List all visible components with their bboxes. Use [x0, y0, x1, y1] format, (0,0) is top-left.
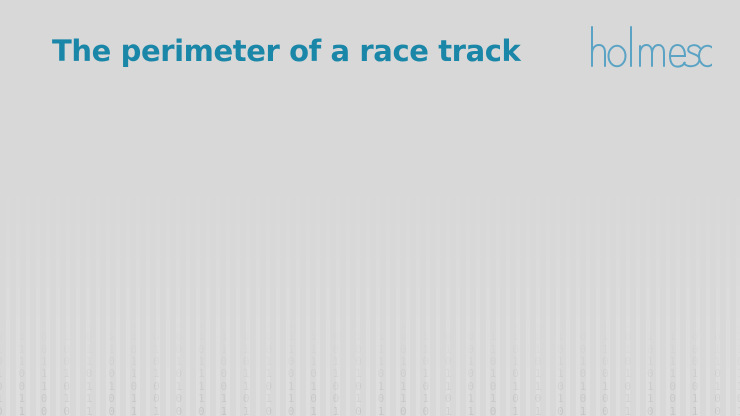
slide-body-content — [52, 92, 688, 392]
presentation-slide: 1 0 1 1 0 1 0 0 1 1 0 1 0 1 1 0 0 1 0 1 … — [0, 0, 740, 416]
holmesglen-logo — [586, 18, 712, 74]
slide-title: The perimeter of a race track — [52, 34, 520, 68]
